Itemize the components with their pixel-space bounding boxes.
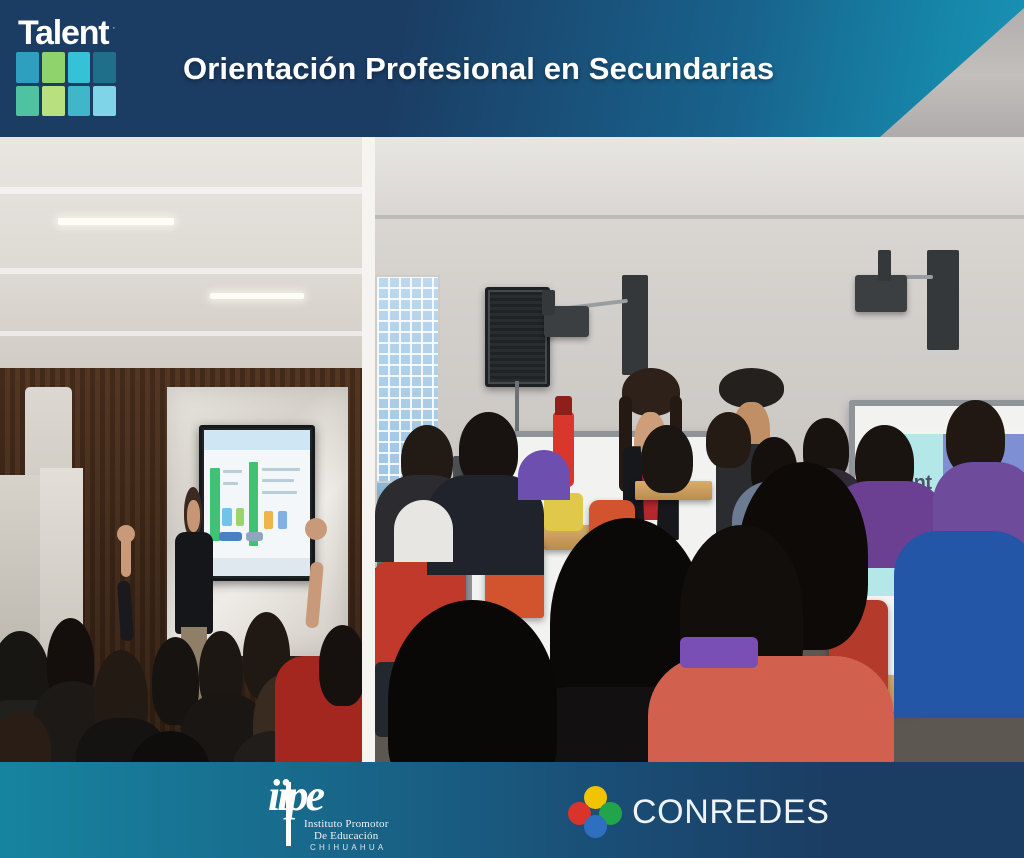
presenter-black-shirt xyxy=(175,532,213,634)
poster-header: Talent · Orientación Profesional en Secu… xyxy=(0,0,1024,137)
projector-bracket xyxy=(878,250,891,281)
slide-text-line xyxy=(262,491,297,494)
slide-icon-chip xyxy=(236,508,244,526)
node-bottom xyxy=(584,815,607,838)
auditorium-ceiling xyxy=(0,137,362,387)
slide-text-line xyxy=(262,479,294,482)
student-blue-sweater xyxy=(894,531,1024,719)
slide-text-line xyxy=(223,482,238,485)
ipe-line-3: CHIHUAHUA xyxy=(310,843,386,852)
conredes-nodes-icon xyxy=(568,786,622,838)
water-bottle-cap xyxy=(555,396,572,415)
slide-footer-bar xyxy=(204,558,310,576)
ceiling-beam xyxy=(0,331,362,336)
poster-root: Talent Bienvenidos xyxy=(0,0,1024,858)
conredes-wordmark: CONREDES xyxy=(632,793,830,832)
ipe-vertical-bar-icon xyxy=(286,782,291,846)
seated-student-head xyxy=(319,625,362,706)
ceiling-beam xyxy=(0,268,362,274)
slide-icon-chip xyxy=(264,511,272,529)
projector-bracket xyxy=(542,290,555,315)
ceiling-light xyxy=(58,218,174,225)
ipe-logo: iipe Instituto Promotor De Educación CHI… xyxy=(262,776,412,848)
projector-mount xyxy=(927,250,959,350)
tv-screen-content xyxy=(204,430,310,576)
conredes-logo: CONREDES xyxy=(568,786,830,838)
left-photo-tv-screen xyxy=(199,425,315,581)
student-purple-collar xyxy=(680,637,758,668)
wall-speaker xyxy=(485,287,550,387)
photo-right-classroom: Talent Bienvenidos xyxy=(375,137,1024,762)
ceiling-wall-edge xyxy=(375,215,1024,219)
talent-abstract-mark-icon xyxy=(16,52,116,116)
page-title: Orientación Profesional en Secundarias xyxy=(183,51,774,87)
ipe-line-2: De Educación xyxy=(314,830,378,842)
poster-footer: iipe Instituto Promotor De Educación CHI… xyxy=(0,762,1024,858)
speaker-grille xyxy=(488,290,547,384)
student-hand-fist xyxy=(117,525,135,543)
slide-text-line xyxy=(262,468,300,471)
slide-button xyxy=(246,532,263,541)
photo-divider xyxy=(362,137,375,762)
ipe-wordmark: iipe xyxy=(268,774,322,818)
slide-icon-chip xyxy=(222,508,232,526)
slide-top-bar xyxy=(204,430,310,450)
student-purple-sweater xyxy=(518,450,570,500)
slide-icon-chip xyxy=(278,511,286,529)
talent-trademark-icon: · xyxy=(112,22,116,34)
ipe-line-1: Instituto Promotor xyxy=(304,818,389,830)
classroom-ceiling xyxy=(375,137,1024,218)
seated-student-head xyxy=(641,425,693,494)
student-coral-hoodie xyxy=(648,656,895,762)
talent-logo: Talent · xyxy=(0,0,150,137)
presenter-face xyxy=(187,500,200,532)
slide-button xyxy=(219,532,242,541)
projector-mount xyxy=(622,275,648,375)
ceiling-beam xyxy=(0,187,362,194)
seated-student-head xyxy=(706,412,751,468)
talent-wordmark: Talent xyxy=(18,16,108,50)
photo-left-auditorium xyxy=(0,137,362,762)
ceiling-light xyxy=(210,293,304,299)
slide-text-line xyxy=(223,470,242,473)
student-white-shirt xyxy=(394,500,452,563)
student-hand-fist xyxy=(305,518,327,540)
